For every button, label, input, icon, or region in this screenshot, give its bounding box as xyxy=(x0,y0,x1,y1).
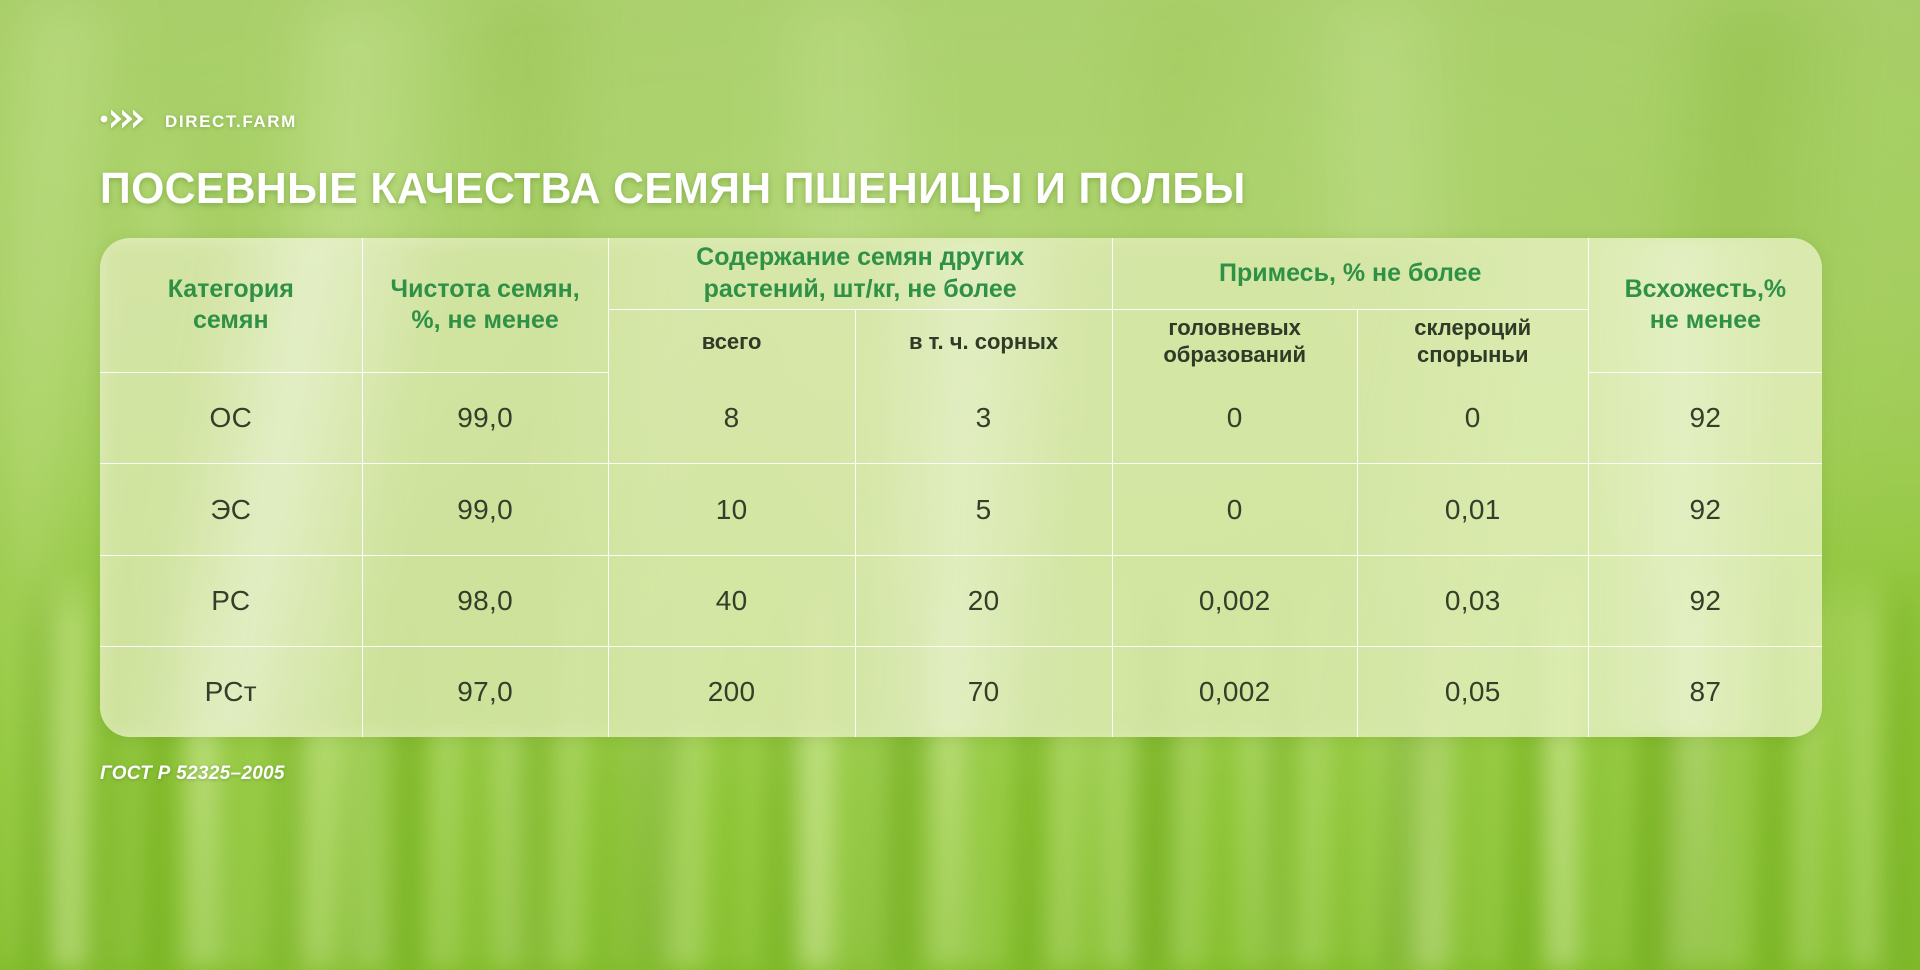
table-row: ЭС 99,0 10 5 0 0,01 92 xyxy=(100,464,1822,555)
cell-smut: 0 xyxy=(1112,373,1357,464)
cell-smut: 0 xyxy=(1112,464,1357,555)
cell-germination: 92 xyxy=(1588,373,1822,464)
cell-other-total: 8 xyxy=(608,373,855,464)
brand-logo: DIRECT.FARM xyxy=(100,107,297,136)
table-body: ОС 99,0 8 3 0 0 92 ЭС 99,0 10 5 0 0,01 9… xyxy=(100,373,1822,737)
seed-quality-table: Категориясемян Чистота семян,%, не менее… xyxy=(100,238,1822,737)
data-table-panel: Категориясемян Чистота семян,%, не менее… xyxy=(100,238,1822,737)
cell-ergot: 0 xyxy=(1357,373,1588,464)
col-header-admixture-smut: головневых образований xyxy=(1112,310,1357,373)
cell-germination: 92 xyxy=(1588,555,1822,646)
table-header-row-group: Категориясемян Чистота семян,%, не менее… xyxy=(100,238,1822,310)
source-citation: ГОСТ Р 52325–2005 xyxy=(100,763,285,785)
col-header-other-seeds-total: всего xyxy=(608,310,855,373)
direct-farm-chevrons-icon xyxy=(100,107,154,136)
col-header-admixture-ergot: склероций спорыньи xyxy=(1357,310,1588,373)
cell-purity: 98,0 xyxy=(362,555,608,646)
cell-germination: 92 xyxy=(1588,464,1822,555)
cell-category: РС xyxy=(100,555,362,646)
cell-germination: 87 xyxy=(1588,647,1822,737)
brand-name: DIRECT.FARM xyxy=(165,113,297,130)
cell-purity: 97,0 xyxy=(362,647,608,737)
page-title: ПОСЕВНЫЕ КАЧЕСТВА СЕМЯН ПШЕНИЦЫ И ПОЛБЫ xyxy=(100,166,1246,212)
cell-purity: 99,0 xyxy=(362,373,608,464)
cell-category: ОС xyxy=(100,373,362,464)
cell-category: ЭС xyxy=(100,464,362,555)
cell-ergot: 0,05 xyxy=(1357,647,1588,737)
cell-smut: 0,002 xyxy=(1112,555,1357,646)
cell-other-weeds: 5 xyxy=(855,464,1112,555)
cell-other-total: 40 xyxy=(608,555,855,646)
table-row: РС 98,0 40 20 0,002 0,03 92 xyxy=(100,555,1822,646)
cell-other-weeds: 20 xyxy=(855,555,1112,646)
col-header-purity: Чистота семян,%, не менее xyxy=(362,238,608,373)
cell-smut: 0,002 xyxy=(1112,647,1357,737)
col-header-other-seeds-weeds: в т. ч. сорных xyxy=(855,310,1112,373)
col-header-germination: Всхожесть,%не менее xyxy=(1588,238,1822,373)
cell-purity: 99,0 xyxy=(362,464,608,555)
col-header-other-seeds-group: Содержание семян другихрастений, шт/кг, … xyxy=(608,238,1112,310)
cell-other-total: 200 xyxy=(608,647,855,737)
cell-other-weeds: 3 xyxy=(855,373,1112,464)
cell-other-weeds: 70 xyxy=(855,647,1112,737)
infographic-canvas: DIRECT.FARM ПОСЕВНЫЕ КАЧЕСТВА СЕМЯН ПШЕН… xyxy=(0,0,1920,970)
cell-ergot: 0,03 xyxy=(1357,555,1588,646)
cell-category: РСт xyxy=(100,647,362,737)
table-row: РСт 97,0 200 70 0,002 0,05 87 xyxy=(100,647,1822,737)
col-header-category: Категориясемян xyxy=(100,238,362,373)
col-header-admixture-group: Примесь, % не более xyxy=(1112,238,1588,310)
cell-other-total: 10 xyxy=(608,464,855,555)
table-row: ОС 99,0 8 3 0 0 92 xyxy=(100,373,1822,464)
cell-ergot: 0,01 xyxy=(1357,464,1588,555)
